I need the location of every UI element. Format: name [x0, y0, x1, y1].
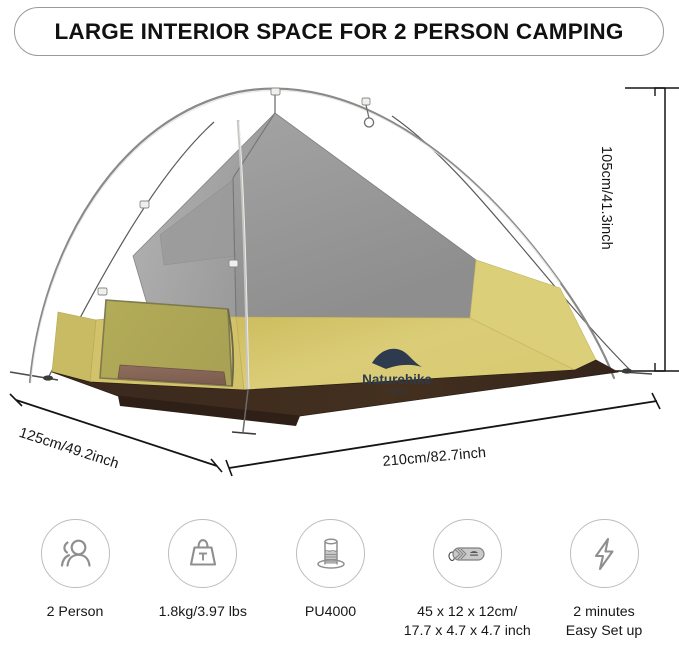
feature-packed-size-circle	[433, 519, 502, 588]
bolt-shape	[596, 539, 613, 569]
two-person-icon	[54, 533, 96, 575]
feature-waterproof-circle	[296, 519, 365, 588]
sack-body	[453, 548, 484, 560]
height-dimension-label: 105cm/41.3inch	[598, 146, 614, 250]
mesh-face-front	[233, 113, 476, 318]
height-tick-upper	[655, 88, 665, 96]
tent-illustration: Naturehike outdoor	[0, 60, 679, 508]
depth-start-tick	[10, 394, 22, 406]
clip-apex	[271, 88, 280, 95]
waterproof-column-icon	[310, 533, 352, 575]
feature-waterproof-line1: PU4000	[305, 603, 356, 622]
feature-setup-time-line1: 2 minutes	[566, 603, 643, 622]
body-panel-far-left	[52, 312, 96, 382]
feature-capacity-circle	[41, 519, 110, 588]
front-stake-head	[232, 432, 256, 434]
height-tick-lower	[655, 363, 665, 371]
clip-center	[229, 260, 238, 267]
feature-capacity: 2 Person	[14, 519, 136, 622]
logo-brand-subtext: outdoor	[387, 389, 407, 395]
page-title: LARGE INTERIOR SPACE FOR 2 PERSON CAMPIN…	[54, 19, 623, 45]
feature-weight-line1: 1.8kg/3.97 lbs	[159, 603, 247, 622]
feature-packed-size: 45 x 12 x 12cm/ 17.7 x 4.7 x 4.7 inch	[397, 519, 537, 641]
weight-bag-icon	[182, 533, 224, 575]
logo-brand-text: Naturehike	[362, 372, 432, 387]
feature-waterproof-caption: PU4000	[305, 603, 356, 622]
feature-waterproof: PU4000	[270, 519, 392, 622]
feature-packed-size-line2: 17.7 x 4.7 x 4.7 inch	[404, 622, 531, 641]
feature-setup-time-circle	[570, 519, 639, 588]
feature-capacity-caption: 2 Person	[47, 603, 104, 622]
feature-weight: 1.8kg/3.97 lbs	[142, 519, 264, 622]
clip-left-lower	[98, 288, 107, 295]
stake-right-head	[622, 368, 632, 373]
feature-weight-circle	[168, 519, 237, 588]
clip-right	[362, 98, 370, 105]
feature-setup-time: 2 minutes Easy Set up	[543, 519, 665, 641]
feature-capacity-line1: 2 Person	[47, 603, 104, 622]
feature-packed-size-line1: 45 x 12 x 12cm/	[404, 603, 531, 622]
title-banner: LARGE INTERIOR SPACE FOR 2 PERSON CAMPIN…	[14, 7, 664, 56]
clip-left-upper	[140, 201, 149, 208]
feature-setup-time-caption: 2 minutes Easy Set up	[566, 603, 643, 641]
feature-packed-size-caption: 45 x 12 x 12cm/ 17.7 x 4.7 x 4.7 inch	[404, 603, 531, 641]
feature-specs-row: 2 Person 1.8kg/3.97 lbs	[0, 519, 679, 664]
feature-setup-time-line2: Easy Set up	[566, 622, 643, 641]
stake-left-head	[43, 375, 53, 380]
lightning-bolt-icon	[583, 533, 625, 575]
feature-weight-caption: 1.8kg/3.97 lbs	[159, 603, 247, 622]
stuff-sack-icon	[443, 533, 491, 575]
